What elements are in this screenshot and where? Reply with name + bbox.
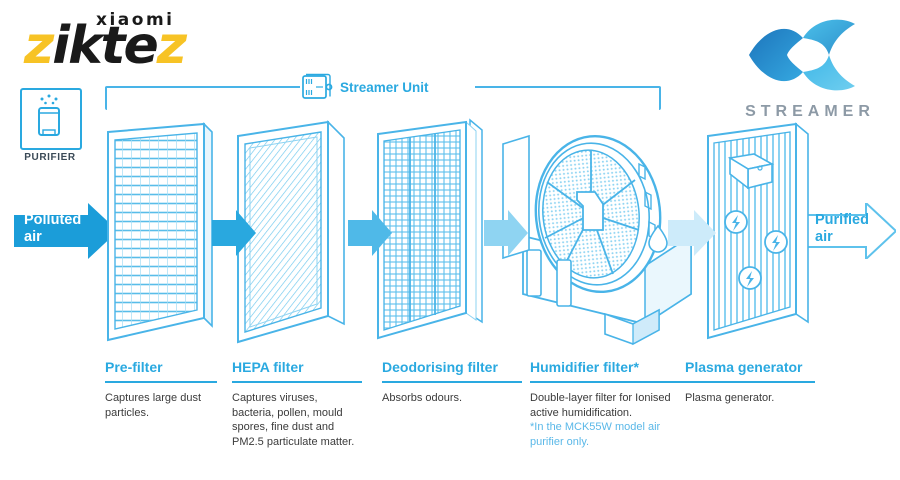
- purifier-label: PURIFIER: [14, 152, 86, 163]
- caption-description: Double-layer filter for Ionised active h…: [530, 391, 690, 420]
- caption-deodorising-filter: Deodorising filter Absorbs odours.: [382, 358, 522, 406]
- caption-humidifier-filter: Humidifier filter* Double-layer filter f…: [530, 358, 690, 449]
- purifier-icon: [20, 88, 82, 150]
- brand-wordmark-part-2: ikte: [52, 16, 157, 76]
- caption-rule: [685, 381, 815, 383]
- purifier-unit-icon: [22, 90, 76, 144]
- flow-arrow-2: [348, 210, 392, 256]
- streamer-unit-label: Streamer Unit: [300, 72, 490, 102]
- caption-title: Humidifier filter*: [530, 358, 690, 376]
- caption-description: Captures large dust particles.: [105, 391, 217, 420]
- brand-wordmark-part-1: z: [24, 16, 52, 76]
- caption-plasma-generator: Plasma generator Plasma generator.: [685, 358, 815, 406]
- flow-arrow-1: [212, 210, 256, 256]
- stage-graphic-plasma-generator: [700, 118, 826, 350]
- streamer-arrow-mark-icon: [745, 14, 875, 96]
- brand-wordmark: ziktez: [24, 20, 185, 72]
- caption-rule: [105, 381, 217, 383]
- caption-note: *In the MCK55W model air purifier only.: [530, 420, 690, 449]
- streamer-device-icon: [300, 72, 334, 102]
- caption-title: Deodorising filter: [382, 358, 522, 376]
- caption-description: Captures viruses, bacteria, pollen, moul…: [232, 391, 362, 449]
- polluted-air-label: Polluted air: [24, 212, 94, 246]
- streamer-unit-text: Streamer Unit: [340, 80, 429, 95]
- caption-title: Pre-filter: [105, 358, 217, 376]
- caption-hepa-filter: HEPA filter Captures viruses, bacteria, …: [232, 358, 362, 449]
- caption-title: HEPA filter: [232, 358, 362, 376]
- brand-logo: xiaomi ziktez: [18, 8, 198, 70]
- caption-description: Absorbs odours.: [382, 391, 522, 406]
- caption-pre-filter: Pre-filter Captures large dust particles…: [105, 358, 217, 420]
- caption-rule: [382, 381, 522, 383]
- brand-wordmark-part-3: z: [157, 16, 185, 76]
- caption-rule: [232, 381, 362, 383]
- caption-rule: [530, 381, 690, 383]
- caption-description: Plasma generator.: [685, 391, 815, 406]
- caption-title: Plasma generator: [685, 358, 815, 376]
- streamer-logo: STREAMER: [740, 14, 880, 124]
- flow-arrow-3: [484, 210, 528, 256]
- flow-arrow-4: [668, 210, 716, 256]
